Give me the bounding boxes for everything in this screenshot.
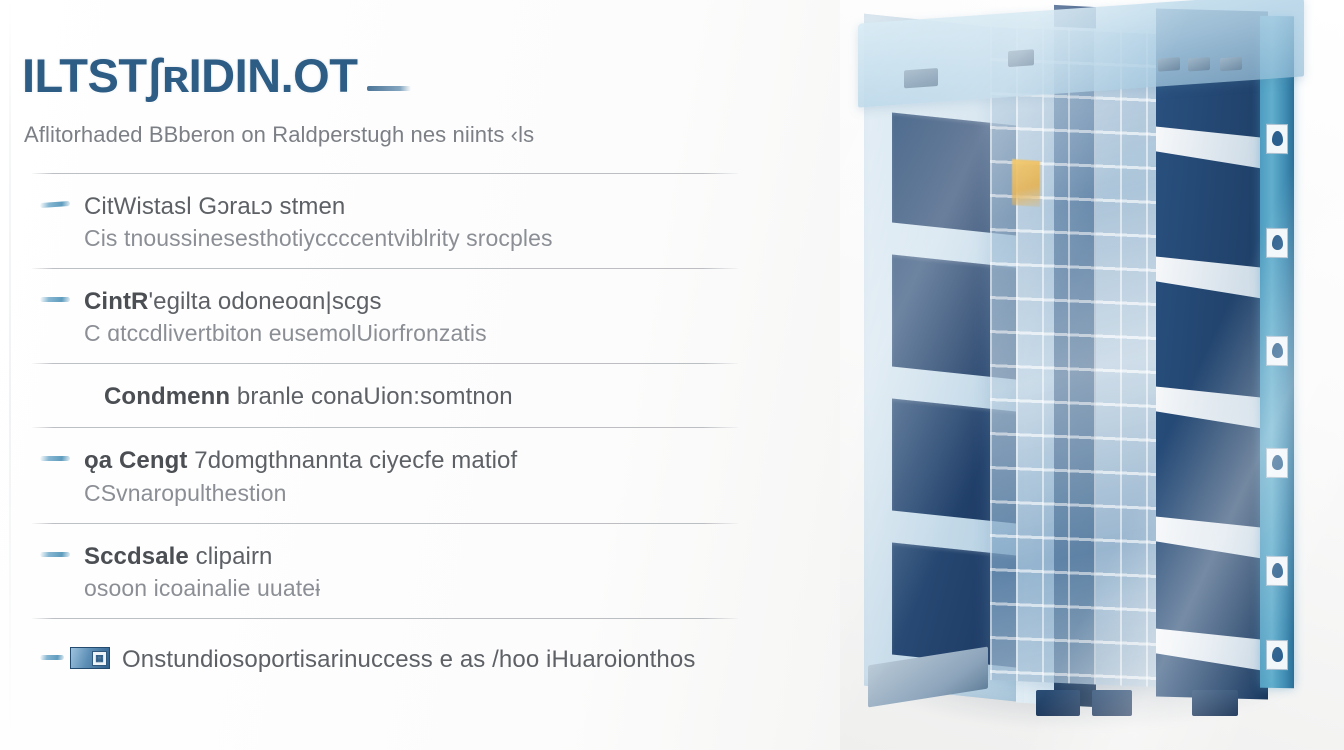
list-item-title: Sccdsale clipairn: [84, 542, 750, 571]
building-edge-strip: [1260, 16, 1294, 688]
list-item-title-rest: ʹegilta odoneoɑn|scgs: [148, 288, 381, 315]
list-item-title: CitWistasl Gɔraʟɔ stmen: [84, 192, 750, 221]
list-item-subtitle: CSvnaropulthestion: [84, 479, 750, 507]
glass-curtain-wall: [990, 24, 1180, 688]
droplet-badge-icon: [1266, 448, 1288, 478]
list-item-title-rest: branle conaUion:somtnon: [237, 383, 513, 410]
dash-marker-icon: [40, 655, 64, 660]
page-subtitle: Aflitorhaded BBberon on Raldperstugh nes…: [24, 121, 790, 149]
list-item-subtitle: C ɑtccdlivertbiton eusemolUiorfronzatis: [84, 319, 750, 347]
list-item[interactable]: Sccdsale clipairn osoon icoainalie uuate…: [18, 524, 790, 618]
dash-marker-icon: [40, 552, 70, 557]
roof-unit: [904, 68, 938, 88]
list-item-title-strong: CintR: [84, 288, 148, 315]
building-foot: [1092, 690, 1132, 716]
dash-marker-icon: [40, 200, 70, 207]
grid-badge-icon: ▦: [70, 647, 110, 669]
roof-unit: [1220, 57, 1242, 72]
list-item-title: Onstundiosoportisarinuccess e as /hoo iH…: [122, 645, 750, 674]
page-title: ILTSTʃʀIDIN.OT: [22, 52, 357, 99]
title-accent-underline: [367, 86, 411, 91]
content-panel: ILTSTʃʀIDIN.OT Aflitorhaded BBberon on R…: [0, 0, 840, 750]
droplet-badge-icon: [1266, 124, 1288, 154]
list-item-title-rest: clipairn: [196, 543, 273, 570]
chevron-cutout: [1156, 517, 1268, 560]
list-item-subtitle: osoon icoainalie uuateɨ: [84, 574, 750, 602]
droplet-badge-icon: [1266, 228, 1288, 258]
chevron-cutout: [1156, 257, 1268, 300]
grid-glyph: ▦: [92, 651, 107, 666]
list-item[interactable]: ▦ Onstundiosoportisarinuccess e as /hoo …: [18, 619, 790, 690]
slide-canvas: ILTSTʃʀIDIN.OT Aflitorhaded BBberon on R…: [0, 0, 1344, 750]
list-item-title: CintRʹegilta odoneoɑn|scgs: [84, 287, 750, 316]
illustration-glass-building: [840, 0, 1344, 750]
chevron-cutout: [1156, 127, 1268, 170]
list-item-subtitle: Cis tnoussinesesthotiyccccentviblrity sr…: [84, 224, 750, 252]
list-item-title-strong: Condmenn: [104, 383, 230, 410]
list-item-title: Condmenn branle conaUion:somtnon: [104, 382, 750, 411]
chevron-cutout: [1156, 387, 1268, 430]
list-item[interactable]: CitWistasl Gɔraʟɔ stmen Cis tnoussineses…: [18, 174, 790, 268]
item-list: CitWistasl Gɔraʟɔ stmen Cis tnoussineses…: [18, 174, 790, 691]
roof-unit: [1188, 57, 1210, 72]
droplet-badge-icon: [1266, 640, 1288, 670]
title-row: ILTSTʃʀIDIN.OT: [22, 52, 790, 99]
left-edge-seam: [9, 0, 11, 750]
building-foot: [1036, 690, 1080, 716]
building-foot: [1192, 690, 1238, 716]
roof-unit: [1158, 57, 1180, 72]
chevron-cutout: [1156, 629, 1268, 672]
dash-marker-icon: [40, 456, 70, 461]
roof-unit: [1008, 49, 1034, 67]
amber-accent-panel: [1012, 159, 1040, 207]
droplet-badge-icon: [1266, 336, 1288, 366]
list-item[interactable]: Condmenn branle conaUion:somtnon: [18, 364, 790, 427]
list-item-title: ǫa Cengt 7domgthnannta ciyecfe matiof: [84, 446, 750, 475]
list-item[interactable]: ǫa Cengt 7domgthnannta ciyecfe matiof CS…: [18, 428, 790, 522]
list-item[interactable]: CintRʹegilta odoneoɑn|scgs C ɑtccdlivert…: [18, 269, 790, 363]
dash-marker-icon: [40, 297, 70, 302]
droplet-badge-icon: [1266, 556, 1288, 586]
building-right-fin: [1156, 9, 1268, 700]
list-item-title-rest: 7domgthnannta ciyecfe matiof: [194, 447, 517, 474]
list-item-title-strong: Sccdsale: [84, 543, 189, 570]
list-item-title-strong: ǫa Cengt: [84, 447, 187, 474]
